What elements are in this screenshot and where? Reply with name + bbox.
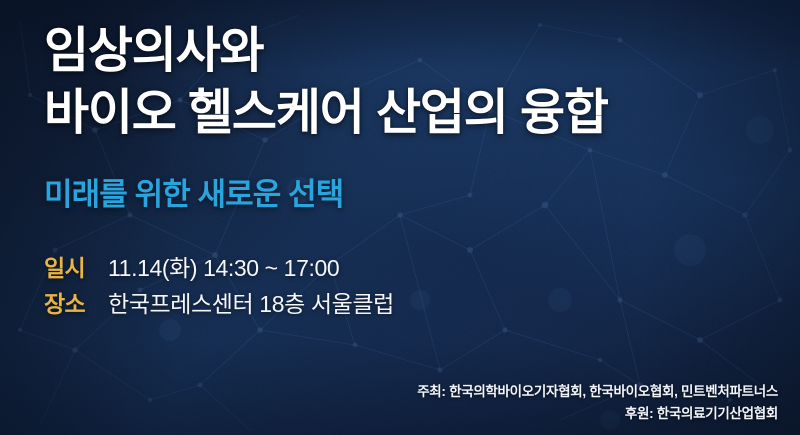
- event-poster: 임상의사와 바이오 헬스케어 산업의 융합 미래를 위한 새로운 선택 일시 1…: [0, 0, 800, 435]
- host-line: 주최: 한국의학바이오기자협회, 한국바이오협회, 민트벤처파트너스: [417, 381, 778, 403]
- event-venue-row: 장소 한국프레스센터 18층 서울클럽: [44, 285, 394, 321]
- event-date-value: 11.14(화) 14:30 ~ 17:00: [108, 249, 339, 283]
- event-details: 일시 11.14(화) 14:30 ~ 17:00 장소 한국프레스센터 18층…: [44, 249, 394, 321]
- event-date-label: 일시: [44, 249, 108, 283]
- subtitle: 미래를 위한 새로운 선택: [44, 175, 343, 215]
- event-venue-label: 장소: [44, 285, 108, 319]
- event-date-row: 일시 11.14(화) 14:30 ~ 17:00: [44, 249, 394, 285]
- page-title: 임상의사와 바이오 헬스케어 산업의 융합: [44, 20, 608, 144]
- event-venue-value: 한국프레스센터 18층 서울클럽: [108, 285, 394, 319]
- sponsor-line: 후원: 한국의료기기산업협회: [417, 403, 778, 425]
- title-line-1: 임상의사와: [44, 20, 608, 82]
- organizer-credits: 주최: 한국의학바이오기자협회, 한국바이오협회, 민트벤처파트너스 후원: 한…: [417, 381, 778, 425]
- title-line-2: 바이오 헬스케어 산업의 융합: [44, 82, 608, 144]
- poster-content: 임상의사와 바이오 헬스케어 산업의 융합 미래를 위한 새로운 선택 일시 1…: [0, 0, 800, 435]
